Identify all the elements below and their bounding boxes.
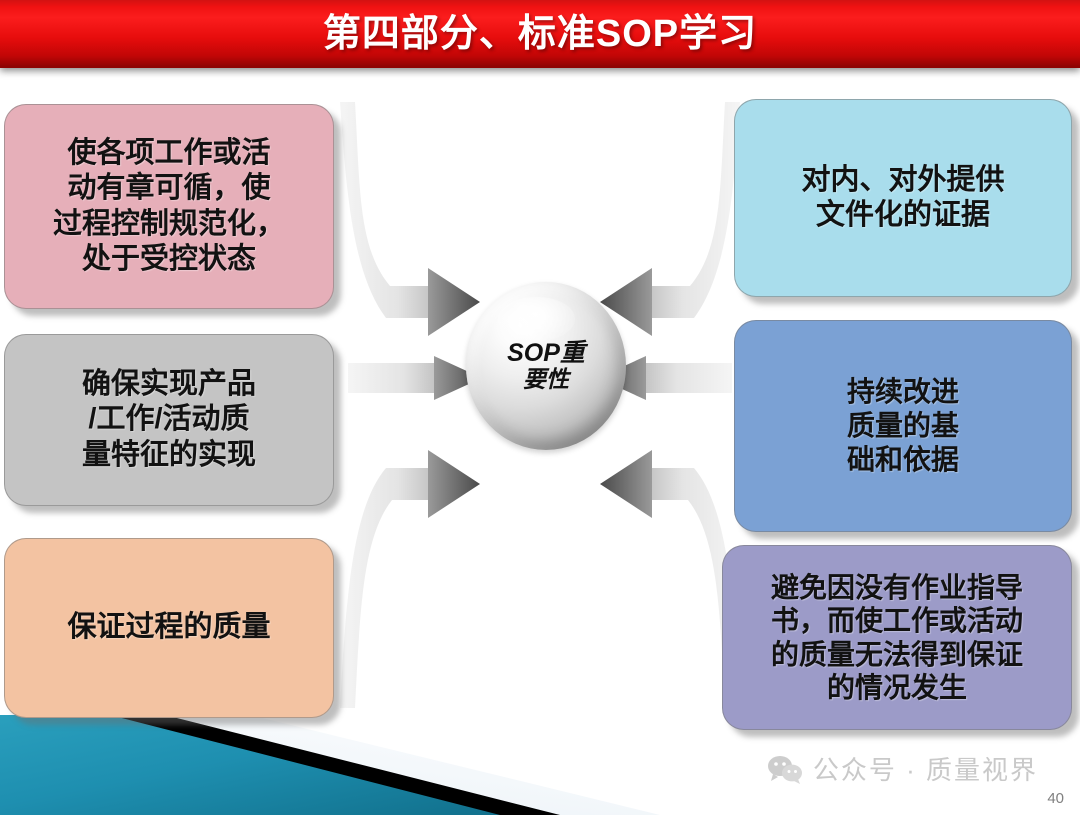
page-title: 第四部分、标准SOP学习 xyxy=(323,15,757,53)
watermark-text: 公众号 · 质量视界 xyxy=(813,750,1038,787)
info-box-left-2[interactable]: 确保实现产品 /工作/活动质 量特征的实现 xyxy=(4,334,334,506)
center-label-line2: 要性 xyxy=(523,367,569,393)
info-box-left-3-text: 保证过程的质量 xyxy=(67,610,270,645)
slide-canvas: 第四部分、标准SOP学习 xyxy=(0,0,1080,815)
ribbon-left-bottom xyxy=(340,468,436,708)
info-box-left-1[interactable]: 使各项工作或活 动有章可循，使 过程控制规范化， 处于受控状态 xyxy=(4,104,334,309)
info-box-right-1-text: 对内、对外提供 文件化的证据 xyxy=(801,163,1004,234)
arrowhead-left-top xyxy=(428,268,480,336)
info-box-left-3[interactable]: 保证过程的质量 xyxy=(4,538,334,718)
wechat-icon xyxy=(767,754,803,784)
info-box-right-2-text: 持续改进 质量的基 础和依据 xyxy=(847,375,959,477)
watermark: 公众号 · 质量视界 xyxy=(767,750,1038,787)
ribbon-right-middle xyxy=(640,363,732,393)
ribbon-left-top xyxy=(340,102,436,318)
center-sphere: SOP重 要性 xyxy=(466,282,626,450)
info-box-left-2-text: 确保实现产品 /工作/活动质 量特征的实现 xyxy=(82,367,256,473)
info-box-right-3-text: 避免因没有作业指导 书，而使工作或活动 的质量无法得到保证 的情况发生 xyxy=(771,571,1023,703)
arrowhead-left-bottom xyxy=(428,450,480,518)
page-number: 40 xyxy=(1047,790,1064,807)
arrowhead-right-bottom xyxy=(600,450,652,518)
bottom-diagonal-decoration xyxy=(0,715,660,815)
ribbon-left-middle xyxy=(348,363,440,393)
header-banner: 第四部分、标准SOP学习 xyxy=(0,0,1080,68)
info-box-right-3[interactable]: 避免因没有作业指导 书，而使工作或活动 的质量无法得到保证 的情况发生 xyxy=(722,545,1072,730)
ribbon-right-top xyxy=(644,102,740,318)
info-box-right-2[interactable]: 持续改进 质量的基 础和依据 xyxy=(734,320,1072,532)
info-box-left-1-text: 使各项工作或活 动有章可循，使 过程控制规范化， 处于受控状态 xyxy=(53,136,285,278)
info-box-right-1[interactable]: 对内、对外提供 文件化的证据 xyxy=(734,99,1072,297)
center-label-line1: SOP重 xyxy=(507,339,585,367)
